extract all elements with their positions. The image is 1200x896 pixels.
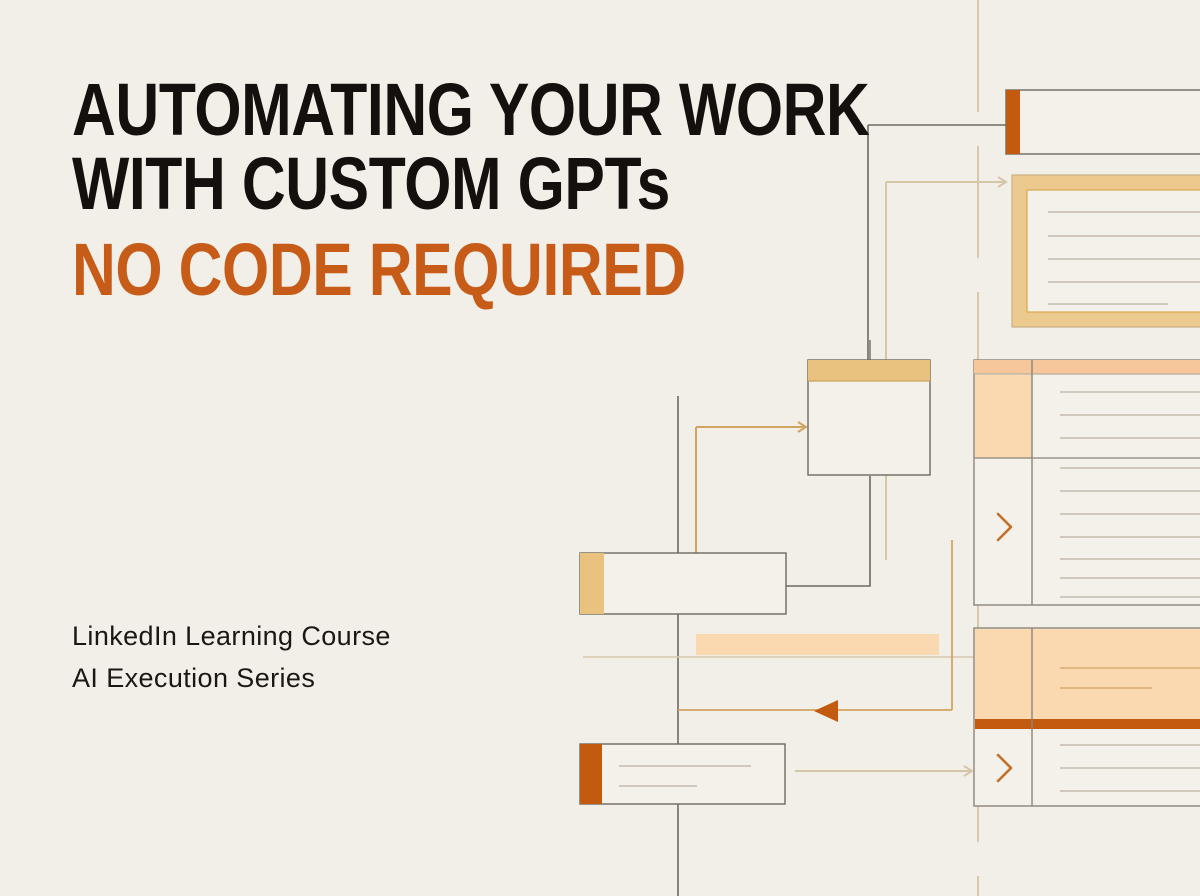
subtitle-line-2: AI Execution Series [72, 658, 391, 700]
panel-highlight-cell [975, 375, 1032, 458]
subtitle-line-1: LinkedIn Learning Course [72, 616, 391, 658]
table-panel-lower[interactable] [974, 628, 1200, 806]
elbow-to-top-panel [808, 125, 1006, 390]
table-panel-upper[interactable] [974, 360, 1200, 605]
page-title-accent: NO CODE REQUIRED [72, 236, 646, 304]
box-accent-tab [580, 553, 604, 614]
orange-tab-box[interactable] [580, 744, 785, 804]
peach-highlight-bar [696, 634, 939, 655]
box-accent-tab [580, 744, 602, 804]
slide-canvas: AUTOMATING YOUR WORK WITH CUSTOM GPTs NO… [0, 0, 1200, 896]
page-title-line-2: WITH CUSTOM GPTs [72, 150, 646, 218]
gold-framed-card[interactable] [1012, 175, 1200, 327]
box-header-bar [808, 360, 930, 381]
page-title-line-1: AUTOMATING YOUR WORK [72, 76, 646, 144]
panel-header-bar [974, 360, 1200, 374]
panel-highlight-row [975, 629, 1200, 719]
triangle-arrow-left-icon [814, 700, 838, 722]
wide-gold-tab-box[interactable] [580, 553, 786, 614]
title-block: AUTOMATING YOUR WORK WITH CUSTOM GPTs NO… [72, 76, 772, 310]
connector-goldbox-to-widebox [786, 476, 870, 586]
top-tab-panel[interactable] [1006, 90, 1200, 154]
panel-divider-bar [975, 719, 1200, 729]
subtitle-block: LinkedIn Learning Course AI Execution Se… [72, 616, 391, 700]
gold-header-box[interactable] [808, 340, 930, 475]
panel-accent-tab [1006, 90, 1020, 154]
